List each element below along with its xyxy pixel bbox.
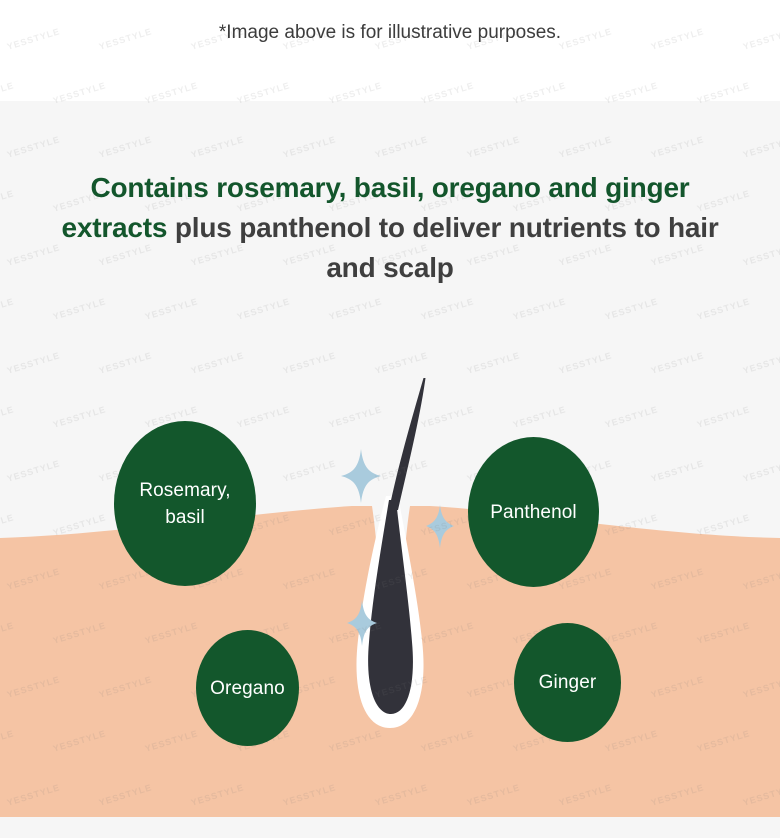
ingredient-label-line1: Oregano [210, 675, 285, 702]
ingredient-label-line2: basil [139, 504, 230, 531]
sparkle-icon [341, 449, 381, 503]
ingredient-label-line1: Ginger [539, 669, 597, 696]
scalp-illustration [0, 300, 780, 838]
ingredient-badge-ginger: Ginger [514, 623, 621, 742]
illustrative-purposes-disclaimer: *Image above is for illustrative purpose… [0, 22, 780, 44]
bottom-gray-strip [0, 817, 780, 838]
top-white-band [0, 0, 780, 101]
ingredient-badge-oregano: Oregano [196, 630, 299, 746]
ingredient-label-line1: Rosemary, [139, 477, 230, 504]
ingredient-label-line1: Panthenol [490, 499, 576, 526]
hair-shaft-shape [389, 378, 426, 510]
ingredient-badge-rosemary-basil: Rosemary, basil [114, 421, 256, 586]
ingredient-badge-panthenol: Panthenol [468, 437, 599, 587]
product-feature-panel: YESSTYLEYESSTYLEYESSTYLEYESSTYLEYESSTYLE… [0, 0, 780, 838]
feature-headline: Contains rosemary, basil, oregano and gi… [60, 168, 720, 288]
headline-rest: plus panthenol to deliver nutrients to h… [167, 212, 718, 283]
